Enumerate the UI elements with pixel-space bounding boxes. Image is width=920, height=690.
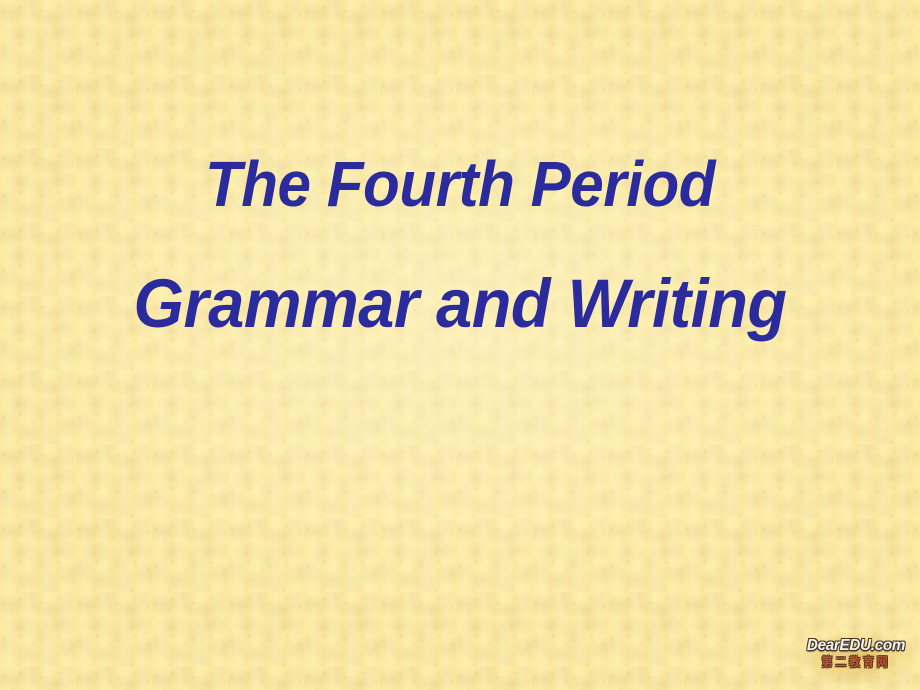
slide-title-line-1: The Fourth Period <box>28 152 893 216</box>
presentation-slide: The Fourth Period Grammar and Writing De… <box>0 0 920 690</box>
slide-title-line-2: Grammar and Writing <box>28 269 893 338</box>
background-texture-streaks <box>0 0 920 690</box>
watermark-brand-text: DearEDU.com <box>798 638 914 654</box>
watermark-chinese-text: 第二教育网 <box>800 656 912 668</box>
background-texture-blotches <box>0 0 920 690</box>
background-texture-grain <box>0 0 920 690</box>
dearedu-watermark: DearEDU.com 第二教育网 <box>795 638 917 684</box>
